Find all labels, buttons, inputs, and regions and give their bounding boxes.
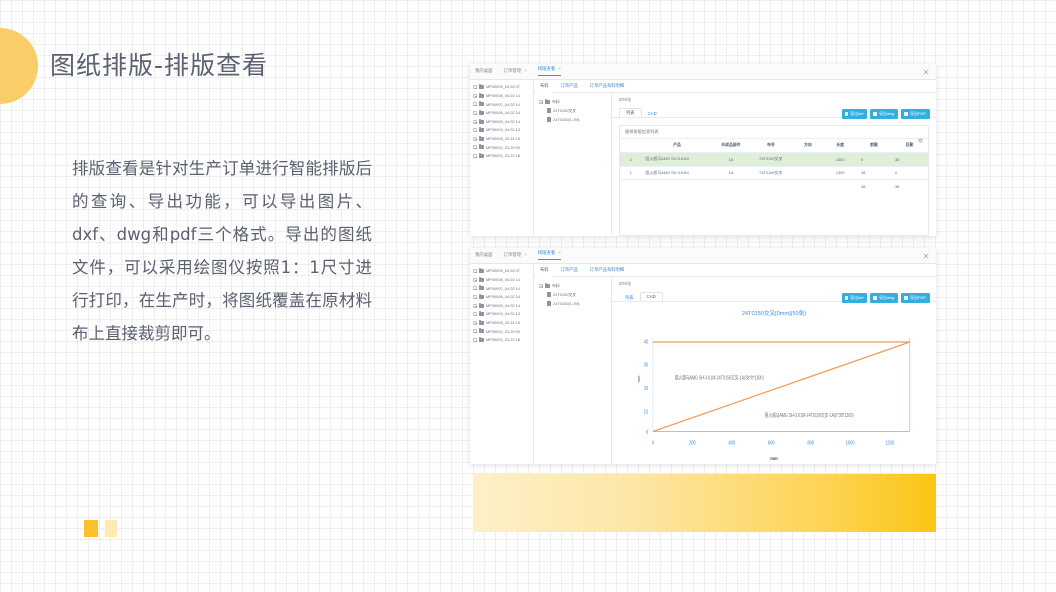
col-length: 长度: [823, 139, 857, 153]
cell-direction: [792, 152, 823, 166]
expand-toggle-icon[interactable]: [473, 321, 477, 325]
tree-item[interactable]: MP00007_04.02 14: [473, 284, 531, 293]
export-button-group: 导出dxf 导出dwg 导出PDF: [842, 109, 930, 119]
content-pane: 0/50张 列表 CAD 导出dxf 导出dwg 导出PDF 图纸排: [612, 93, 936, 236]
content-pane: 0/50张 列表 CAD 导出dxf 导出dwg 导出PDF 24T0150交叉…: [612, 277, 936, 464]
sub-tab-bar: 布料 订单产品 订单产品布料明细: [534, 264, 936, 277]
app-tab-bar: 我的桌面 订单管理× 排版查看×: [470, 64, 936, 80]
tree-item-label: 24T0150交叉: [553, 109, 576, 113]
tree-item-root[interactable]: 布料: [539, 281, 611, 290]
app-tab-bar: 我的桌面 订单管理× 排版查看×: [470, 248, 936, 264]
app-tab-layout-view[interactable]: 排版查看×: [538, 67, 561, 75]
table-title: 图纸排版信息列表: [625, 129, 659, 135]
window-close-icon[interactable]: [923, 253, 929, 259]
export-button-label: 导出dwg: [879, 112, 894, 116]
window-close-icon[interactable]: [923, 69, 929, 75]
app-tab-order-mgmt[interactable]: 订单管理×: [504, 69, 527, 73]
app-tab-label: 我的桌面: [475, 252, 493, 257]
export-dwg-icon: [873, 112, 877, 116]
export-button-group: 导出dxf 导出dwg 导出PDF: [842, 293, 930, 303]
tree-item-label: MP00006_04.02 14: [486, 111, 520, 115]
folder-icon: [479, 85, 484, 89]
folder-icon: [545, 284, 550, 288]
tree-item-label: MP00001_03.22 18: [486, 338, 520, 342]
cell-part: [712, 180, 749, 192]
expand-toggle-icon[interactable]: [539, 100, 543, 104]
y-tick-10: 10: [644, 409, 649, 416]
tree-item-label: MP00002_03.29 09: [486, 330, 520, 334]
chart-svg: 40 30 20 10 0 0 200 400 600 800: [618, 320, 930, 460]
sub-tab-order-product[interactable]: 订单产品: [561, 84, 578, 88]
tree-item[interactable]: MP00009_04.03 07: [473, 267, 531, 276]
export-button-label: 导出PDF: [910, 112, 926, 116]
order-tree-panel: MP00009_04.03 07 MP00008_04.02 14 MP0000…: [470, 80, 534, 236]
col-cloth: 布号: [749, 139, 792, 153]
sub-tab-fabric[interactable]: 布料: [540, 268, 549, 272]
expand-toggle-icon[interactable]: [473, 85, 477, 89]
folder-icon: [479, 94, 484, 98]
sheet-count-label: 0/50张: [612, 277, 936, 290]
tree-item-label: MP00006_04.02 14: [486, 295, 520, 299]
col-part: 半成品部件: [712, 139, 749, 153]
cell-length: 1300: [823, 152, 857, 166]
table-row[interactable]: 2 阻火超马AMG SH-3.61M 1A 24T0150交叉 1300 0 3…: [620, 152, 928, 166]
folder-icon: [479, 137, 484, 141]
tree-item[interactable]: MP00002_03.29 09: [473, 143, 531, 152]
tree-item[interactable]: MP00004_04.02 13: [473, 310, 531, 319]
tree-item-child[interactable]: 24T0150交叉: [539, 106, 611, 115]
file-icon: [547, 117, 551, 122]
cell-direction: [792, 166, 823, 180]
folder-icon: [479, 312, 484, 316]
x-tick-200: 200: [689, 440, 696, 447]
folder-icon: [545, 100, 550, 104]
tree-item-label: MP00003_03.31 15: [486, 137, 520, 141]
app-tab-desktop[interactable]: 我的桌面: [475, 253, 493, 257]
export-dwg-icon: [873, 296, 877, 300]
expand-toggle-icon[interactable]: [473, 137, 477, 141]
tree-item[interactable]: MP00006_04.02 14: [473, 109, 531, 118]
cell-cloth: 24T0150交叉: [749, 166, 792, 180]
app-tab-label: 排版查看: [538, 66, 556, 71]
tree-item-label: 布料: [552, 100, 560, 104]
tree-item-label: MP00009_04.03 07: [486, 85, 520, 89]
export-pdf-icon: [904, 296, 908, 300]
tab-close-icon[interactable]: ×: [524, 68, 527, 73]
cell-product: [642, 180, 713, 192]
tree-item-label: MP00008_04.02 14: [486, 278, 520, 282]
screenshot-panel-list: 我的桌面 订单管理× 排版查看× MP00009_04.03 07 MP0000…: [470, 64, 936, 236]
folder-icon: [479, 286, 484, 290]
tree-item[interactable]: MP00001_03.22 18: [473, 336, 531, 345]
sub-tab-fabric[interactable]: 布料: [540, 84, 549, 88]
body-paragraph: 排版查看是针对生产订单进行智能排版后的查询、导出功能，可以导出图片、dxf、dw…: [72, 152, 372, 350]
cell-front: 0: [857, 152, 891, 166]
app-tab-label: 订单管理: [504, 68, 522, 73]
gear-icon[interactable]: [918, 130, 923, 135]
file-icon: [547, 108, 551, 113]
x-tick-1000: 1000: [846, 440, 855, 447]
tree-item-label: MP00004_04.02 13: [486, 128, 520, 132]
cell-index: 2: [620, 152, 642, 166]
cell-back: 38: [891, 152, 928, 166]
folder-icon: [479, 102, 484, 106]
cell-length: [823, 180, 857, 192]
cad-chart: 24T0150交叉[0mm](50张) mm mm: [618, 304, 930, 460]
tree-item-child[interactable]: 24T0200(1.2M): [539, 115, 611, 124]
tree-item-label: MP00008_04.02 14: [486, 94, 520, 98]
folder-icon: [479, 329, 484, 333]
export-button-label: 导出PDF: [910, 296, 926, 300]
export-dxf-button[interactable]: 导出dxf: [842, 293, 868, 303]
tree-item-label: MP00009_04.03 07: [486, 269, 520, 273]
app-tab-label: 订单管理: [504, 252, 522, 257]
cell-cloth: [749, 180, 792, 192]
chart-annotation-lower: 阻火超马AMG SH-3.61M-24T0150交叉-1A(0*38*1300): [765, 411, 854, 419]
cell-index: [620, 180, 642, 192]
tree-item-label: MP00002_03.29 09: [486, 146, 520, 150]
app-tab-order-mgmt[interactable]: 订单管理×: [504, 253, 527, 257]
tab-close-icon[interactable]: ×: [524, 252, 527, 257]
tree-item-label: MP00005_04.02 14: [486, 304, 520, 308]
folder-icon: [479, 304, 484, 308]
folder-icon: [479, 321, 484, 325]
tree-item[interactable]: MP00008_04.02 14: [473, 276, 531, 285]
expand-toggle-icon[interactable]: [473, 295, 477, 299]
y-tick-30: 30: [644, 362, 649, 369]
cell-product: 阻火超马AMG SH-3.61M: [642, 166, 713, 180]
chart-title: 24T0150交叉[0mm](50张): [618, 309, 930, 317]
expand-toggle-icon[interactable]: [473, 329, 477, 333]
decor-circle: [0, 28, 38, 104]
export-dwg-button[interactable]: 导出dwg: [870, 109, 898, 119]
expand-toggle-icon[interactable]: [473, 154, 477, 158]
sub-tab-bar: 布料 订单产品 订单产品布料明细: [534, 80, 936, 93]
tree-item-label: MP00005_04.02 14: [486, 120, 520, 124]
tree-item[interactable]: MP00006_04.02 14: [473, 293, 531, 302]
layout-info-table: 产品 半成品部件 布号 方向 长度 前聚 后聚 2: [620, 138, 928, 192]
x-tick-400: 400: [728, 440, 735, 447]
pane-split: 布料 24T0150交叉 24T0200(1.2M) 0/50张 列表 CAD …: [534, 277, 936, 464]
tree-item-child[interactable]: 24T0150交叉: [539, 290, 611, 299]
cell-direction: [792, 180, 823, 192]
expand-toggle-icon[interactable]: [473, 338, 477, 342]
export-pdf-button[interactable]: 导出PDF: [901, 293, 930, 303]
app-tab-layout-view[interactable]: 排版查看×: [538, 251, 561, 259]
tree-item-label: MP00003_03.31 15: [486, 321, 520, 325]
expand-toggle-icon[interactable]: [473, 269, 477, 273]
app-tab-label: 我的桌面: [475, 68, 493, 73]
col-index: [620, 139, 642, 153]
x-tick-800: 800: [807, 440, 814, 447]
export-dwg-button[interactable]: 导出dwg: [870, 293, 898, 303]
export-button-label: 导出dxf: [850, 112, 863, 116]
expand-toggle-icon[interactable]: [473, 304, 477, 308]
chart-plot-area: 40 30 20 10 0 0 200 400 600 800: [618, 320, 930, 460]
file-icon: [547, 301, 551, 306]
view-tab-bar: 列表 CAD 导出dxf 导出dwg 导出PDF: [612, 290, 936, 302]
tree-item[interactable]: MP00003_03.31 15: [473, 319, 531, 328]
app-body: MP00009_04.03 07 MP00008_04.02 14 MP0000…: [470, 264, 936, 464]
y-tick-0: 0: [646, 429, 648, 436]
col-direction: 方向: [792, 139, 823, 153]
export-dxf-button[interactable]: 导出dxf: [842, 109, 868, 119]
tree-item-label: 24T0150交叉: [553, 293, 576, 297]
export-button-label: 导出dxf: [850, 296, 863, 300]
tree-item[interactable]: MP00001_03.22 18: [473, 152, 531, 161]
tree-item-label: 24T0200(1.2M): [553, 302, 580, 306]
folder-icon: [479, 278, 484, 282]
col-product: 产品: [642, 139, 713, 153]
table-row[interactable]: 1 阻火超马AMG SH-3.61M 1A 24T0150交叉 1300 38 …: [620, 166, 928, 180]
tree-item-label: MP00007_04.02 14: [486, 287, 520, 291]
table-total-row: 38 38: [620, 180, 928, 192]
cell-index: 1: [620, 166, 642, 180]
tree-item[interactable]: MP00004_04.02 13: [473, 126, 531, 135]
folder-icon: [479, 111, 484, 115]
pane-split: 布料 24T0150交叉 24T0200(1.2M) 0/50张 列表 CAD …: [534, 93, 936, 236]
tree-item-root[interactable]: 布料: [539, 97, 611, 106]
tree-item[interactable]: MP00007_04.02 14: [473, 100, 531, 109]
cell-part: 1A: [712, 152, 749, 166]
tree-item[interactable]: MP00005_04.02 14: [473, 117, 531, 126]
table-header-bar: 图纸排版信息列表: [620, 126, 928, 138]
table-header-row: 产品 半成品部件 布号 方向 长度 前聚 后聚: [620, 139, 928, 153]
tab-close-icon[interactable]: ×: [558, 250, 561, 255]
decor-square-light: [105, 520, 117, 537]
app-tab-desktop[interactable]: 我的桌面: [475, 69, 493, 73]
app-tab-label: 排版查看: [538, 250, 556, 255]
cell-front-total: 38: [857, 180, 891, 192]
folder-icon: [479, 269, 484, 273]
expand-toggle-icon[interactable]: [473, 278, 477, 282]
folder-icon: [479, 120, 484, 124]
folder-icon: [479, 295, 484, 299]
expand-toggle-icon[interactable]: [473, 145, 477, 149]
cell-length: 1300: [823, 166, 857, 180]
tree-item-child[interactable]: 24T0200(1.2M): [539, 299, 611, 308]
export-dxf-icon: [845, 296, 849, 300]
page-title: 图纸排版-排版查看: [50, 46, 268, 82]
tree-item[interactable]: MP00009_04.03 07: [473, 83, 531, 92]
order-tree-panel: MP00009_04.03 07 MP00008_04.02 14 MP0000…: [470, 264, 534, 464]
sub-tab-order-product[interactable]: 订单产品: [561, 268, 578, 272]
tree-item[interactable]: MP00002_03.29 09: [473, 327, 531, 336]
cell-back-total: 38: [891, 180, 928, 192]
folder-icon: [479, 154, 484, 158]
cell-part: 1A: [712, 166, 749, 180]
sub-tab-fabric-detail[interactable]: 订单产品布料明细: [590, 268, 624, 272]
export-pdf-button[interactable]: 导出PDF: [901, 109, 930, 119]
tab-close-icon[interactable]: ×: [558, 66, 561, 71]
x-tick-600: 600: [768, 440, 775, 447]
tree-item-label: MP00007_04.02 14: [486, 103, 520, 107]
tree-item-label: 24T0200(1.2M): [553, 118, 580, 122]
cell-front: 38: [857, 166, 891, 180]
folder-icon: [479, 338, 484, 342]
layout-info-table-panel: 图纸排版信息列表 产品 半成品部件 布号: [619, 125, 929, 236]
expand-toggle-icon[interactable]: [473, 312, 477, 316]
decor-square-dark: [84, 520, 98, 537]
expand-toggle-icon[interactable]: [473, 102, 477, 106]
chart-annotation-upper: 阻火超马AMG SH-3.61M-24T0150交叉-1A(38*0*1300): [675, 374, 764, 382]
sub-tab-fabric-detail[interactable]: 订单产品布料明细: [590, 84, 624, 88]
tree-item-label: MP00001_03.22 18: [486, 154, 520, 158]
folder-icon: [479, 145, 484, 149]
decor-gradient-bar: [473, 474, 936, 532]
view-tab-bar: 列表 CAD 导出dxf 导出dwg 导出PDF: [612, 106, 936, 118]
sheet-count-label: 0/50张: [612, 93, 936, 106]
tree-item[interactable]: MP00003_03.31 15: [473, 135, 531, 144]
main-column: 布料 订单产品 订单产品布料明细 布料 24T0150交叉 24T0200(1.…: [534, 80, 936, 236]
cell-back: 0: [891, 166, 928, 180]
x-tick-1200: 1200: [885, 440, 894, 447]
expand-toggle-icon[interactable]: [473, 94, 477, 98]
expand-toggle-icon[interactable]: [473, 286, 477, 290]
expand-toggle-icon[interactable]: [473, 128, 477, 132]
file-icon: [547, 292, 551, 297]
fabric-tree-panel: 布料 24T0150交叉 24T0200(1.2M): [534, 277, 612, 464]
screenshot-panel-cad: 我的桌面 订单管理× 排版查看× MP00009_04.03 07 MP0000…: [470, 248, 936, 464]
tree-item-label: MP00004_04.02 13: [486, 312, 520, 316]
tree-item[interactable]: MP00008_04.02 14: [473, 92, 531, 101]
expand-toggle-icon[interactable]: [473, 120, 477, 124]
expand-toggle-icon[interactable]: [473, 111, 477, 115]
y-tick-20: 20: [644, 385, 649, 392]
main-column: 布料 订单产品 订单产品布料明细 布料 24T0150交叉 24T0200(1.…: [534, 264, 936, 464]
x-tick-0: 0: [652, 440, 654, 447]
cell-cloth: 24T0150交叉: [749, 152, 792, 166]
app-body: MP00009_04.03 07 MP00008_04.02 14 MP0000…: [470, 80, 936, 236]
fabric-tree-panel: 布料 24T0150交叉 24T0200(1.2M): [534, 93, 612, 236]
tree-item-label: 布料: [552, 284, 560, 288]
export-button-label: 导出dwg: [879, 296, 894, 300]
export-pdf-icon: [904, 112, 908, 116]
y-tick-40: 40: [644, 339, 649, 346]
folder-icon: [479, 128, 484, 132]
col-front: 前聚: [857, 139, 891, 153]
expand-toggle-icon[interactable]: [539, 284, 543, 288]
cell-product: 阻火超马AMG SH-3.61M: [642, 152, 713, 166]
tree-item[interactable]: MP00005_04.02 14: [473, 301, 531, 310]
export-dxf-icon: [845, 112, 849, 116]
